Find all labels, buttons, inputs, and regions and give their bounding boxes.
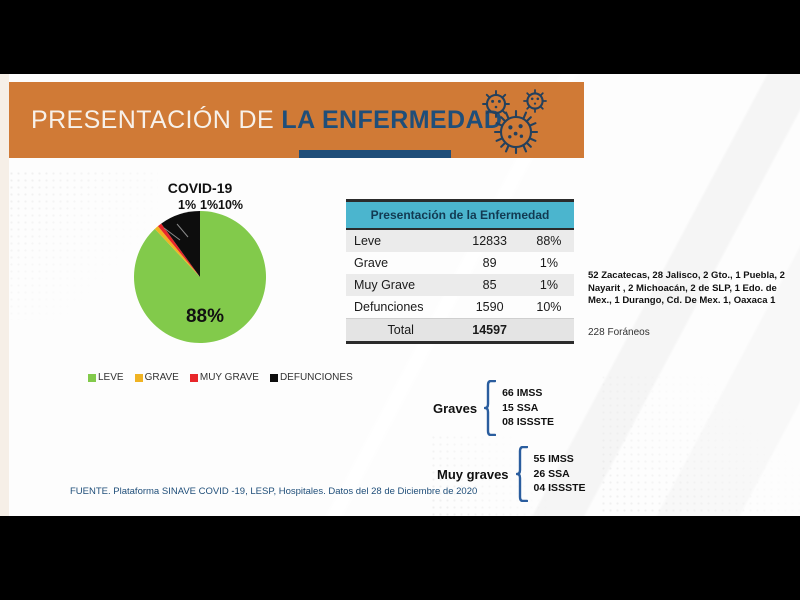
graves-brace-icon: [484, 380, 496, 436]
legend-item: DEFUNCIONES: [270, 372, 353, 383]
total-pct: [524, 319, 574, 343]
slide-header-banner: PRESENTACIÓN DE LA ENFERMEDAD: [9, 82, 584, 158]
muy-graves-item: 26 SSA: [534, 467, 586, 482]
legend-swatch: [135, 374, 143, 382]
muy-graves-item: 04 ISSSTE: [534, 481, 586, 496]
legend-label: GRAVE: [145, 372, 179, 383]
states-breakdown-note: 52 Zacatecas, 28 Jalisco, 2 Gto., 1 Pueb…: [588, 270, 794, 308]
cell-name: Muy Grave: [346, 274, 455, 296]
muy-graves-group-label: Muy graves: [437, 467, 509, 482]
table-row: Muy Grave851%: [346, 274, 574, 296]
chart-title: COVID-19: [130, 180, 270, 196]
table-row: Defunciones159010%: [346, 296, 574, 319]
legend-label: LEVE: [98, 372, 124, 383]
table-header-row: Presentación de la Enfermedad: [346, 201, 574, 230]
legend-swatch: [270, 374, 278, 382]
graves-item: 15 SSA: [502, 401, 554, 416]
legend-item: MUY GRAVE: [190, 372, 259, 383]
legend-item: LEVE: [88, 372, 124, 383]
legend-swatch: [88, 374, 96, 382]
muy-graves-group-items: 55 IMSS 26 SSA 04 ISSSTE: [534, 452, 586, 497]
presentation-slide: PRESENTACIÓN DE LA ENFERMEDAD: [0, 74, 800, 516]
cell-name: Grave: [346, 252, 455, 274]
cell-pct: 88%: [524, 229, 574, 252]
pie-label-leve: 88%: [170, 306, 240, 328]
cell-pct: 10%: [524, 296, 574, 319]
cell-count: 1590: [455, 296, 523, 319]
left-rail: [0, 74, 9, 516]
cell-pct: 1%: [524, 252, 574, 274]
table-row: Grave891%: [346, 252, 574, 274]
legend-label: DEFUNCIONES: [280, 372, 353, 383]
legend-swatch: [190, 374, 198, 382]
graves-item: 08 ISSSTE: [502, 415, 554, 430]
legend-label: MUY GRAVE: [200, 372, 259, 383]
graves-group-items: 66 IMSS 15 SSA 08 ISSSTE: [502, 386, 554, 431]
chart-legend: LEVEGRAVEMUY GRAVEDEFUNCIONES: [88, 372, 353, 383]
dot-texture-bottom-right: [600, 374, 800, 516]
graves-group-label: Graves: [433, 401, 477, 416]
cell-name: Leve: [346, 229, 455, 252]
legend-item: GRAVE: [135, 372, 179, 383]
title-underline-bar: [299, 150, 451, 158]
foraneos-note: 228 Foráneos: [588, 327, 650, 338]
table-total-row: Total14597: [346, 319, 574, 343]
graves-item: 66 IMSS: [502, 386, 554, 401]
source-footer: FUENTE. Plataforma SINAVE COVID -19, LES…: [70, 486, 477, 497]
graves-group: Graves 66 IMSS 15 SSA 08 ISSSTE: [433, 380, 554, 436]
cell-name: Defunciones: [346, 296, 455, 319]
table-body: Leve1283388%Grave891%Muy Grave851%Defunc…: [346, 229, 574, 343]
page-title-light: PRESENTACIÓN DE: [31, 106, 281, 134]
cell-count: 89: [455, 252, 523, 274]
table-row: Leve1283388%: [346, 229, 574, 252]
virus-icon: [478, 88, 552, 159]
muy-graves-item: 55 IMSS: [534, 452, 586, 467]
cell-count: 85: [455, 274, 523, 296]
muy-graves-brace-icon: [516, 446, 528, 502]
page-title-bold: LA ENFERMEDAD: [281, 106, 502, 134]
total-label: Total: [346, 319, 455, 343]
page-title: PRESENTACIÓN DE LA ENFERMEDAD: [31, 106, 502, 135]
cell-count: 12833: [455, 229, 523, 252]
cell-pct: 1%: [524, 274, 574, 296]
total-count: 14597: [455, 319, 523, 343]
screenshot-root: PRESENTACIÓN DE LA ENFERMEDAD: [0, 0, 800, 600]
table-header-title: Presentación de la Enfermedad: [346, 201, 574, 230]
enfermedad-table: Presentación de la Enfermedad Leve128338…: [346, 199, 574, 344]
